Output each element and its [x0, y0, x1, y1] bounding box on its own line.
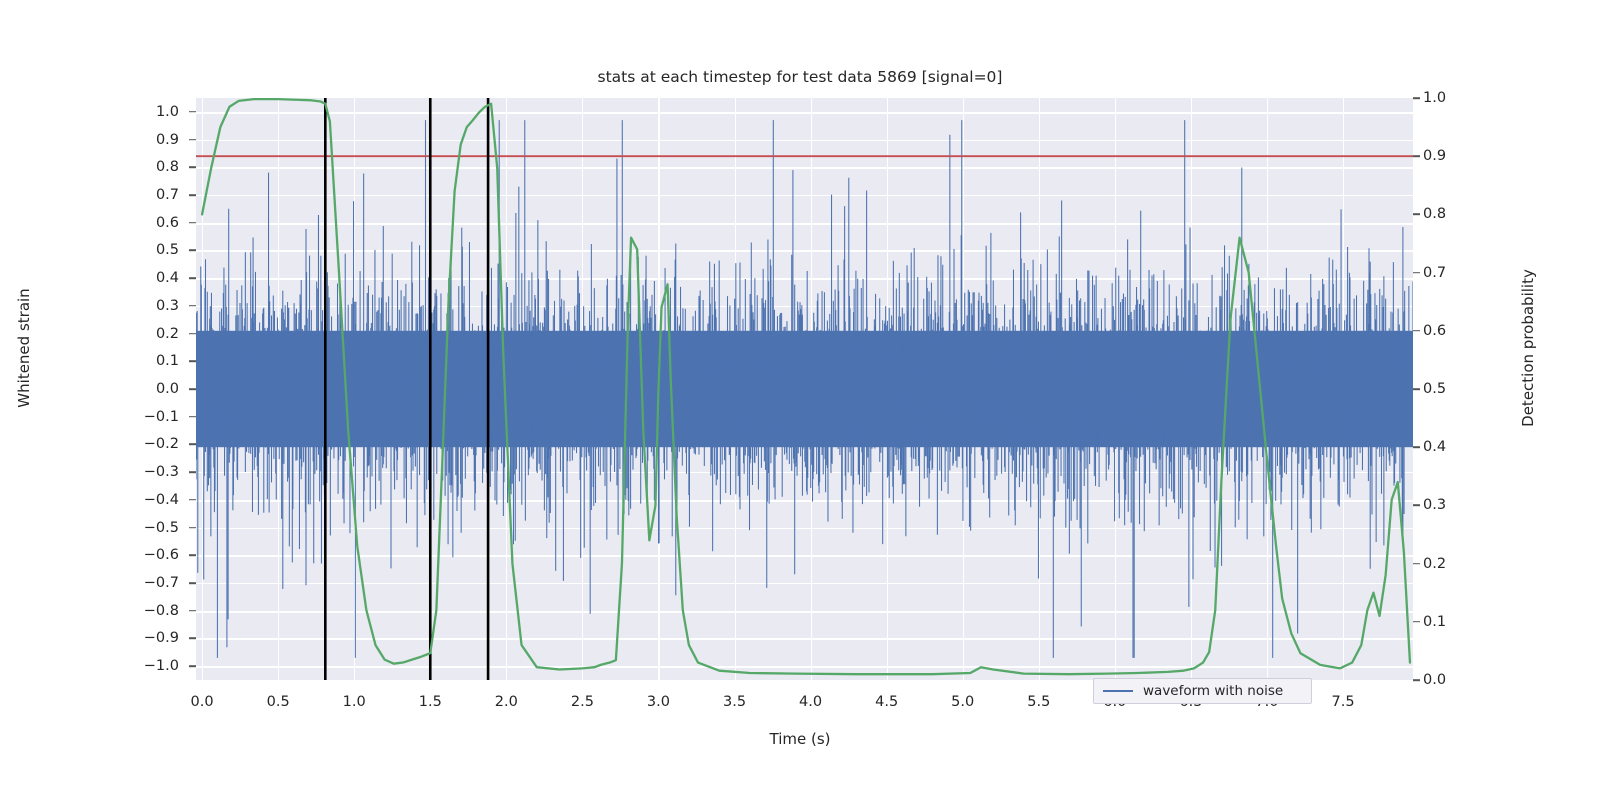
y-tick-left: −0.5	[144, 520, 179, 536]
y-tick-mark-right	[1413, 621, 1420, 623]
y-tick-left: −0.1	[144, 409, 179, 425]
y-tick-left: −0.9	[144, 630, 179, 646]
y-tick-right: 0.7	[1423, 265, 1446, 281]
y-tick-mark-right	[1413, 155, 1420, 157]
y-tick-left: 0.6	[156, 215, 179, 231]
y-tick-left: −0.6	[144, 547, 179, 563]
detection-probability-path	[202, 99, 1410, 674]
y-tick-right: 0.3	[1423, 497, 1446, 513]
x-tick: 5.5	[1027, 694, 1050, 710]
y-tick-mark-left	[189, 471, 196, 473]
y-tick-left: 0.7	[156, 187, 179, 203]
legend-label-waveform: waveform with noise	[1143, 683, 1283, 699]
y-tick-mark-left	[189, 388, 196, 390]
y-tick-mark-right	[1413, 330, 1420, 332]
x-tick: 3.5	[723, 694, 746, 710]
y-axis-left-label: Whitened strain	[15, 248, 33, 448]
y-tick-right: 0.0	[1423, 672, 1446, 688]
y-tick-mark-right	[1413, 563, 1420, 565]
y-tick-left: −0.3	[144, 464, 179, 480]
x-tick: 4.0	[799, 694, 822, 710]
y-tick-mark-left	[189, 139, 196, 141]
y-tick-mark-left	[189, 194, 196, 196]
y-tick-mark-right	[1413, 97, 1420, 99]
y-tick-left: 0.8	[156, 159, 179, 175]
y-tick-left: 1.0	[156, 104, 179, 120]
figure-canvas: stats at each timestep for test data 586…	[0, 0, 1600, 800]
y-tick-right: 1.0	[1423, 90, 1446, 106]
x-tick: 0.5	[267, 694, 290, 710]
y-tick-mark-left	[189, 277, 196, 279]
y-tick-mark-left	[189, 416, 196, 418]
y-tick-mark-left	[189, 111, 196, 113]
y-tick-left: −0.8	[144, 603, 179, 619]
legend-swatch-waveform	[1103, 690, 1133, 692]
y-tick-left: −0.2	[144, 436, 179, 452]
y-tick-mark-right	[1413, 388, 1420, 390]
x-tick: 5.0	[951, 694, 974, 710]
y-tick-mark-left	[189, 444, 196, 446]
x-tick: 2.5	[571, 694, 594, 710]
y-tick-mark-left	[189, 333, 196, 335]
y-tick-mark-left	[189, 305, 196, 307]
y-tick-left: 0.4	[156, 270, 179, 286]
x-tick: 7.5	[1331, 694, 1354, 710]
y-tick-mark-left	[189, 610, 196, 612]
y-tick-mark-left	[189, 527, 196, 529]
y-tick-mark-left	[189, 554, 196, 556]
y-tick-right: 0.4	[1423, 439, 1446, 455]
page-title: stats at each timestep for test data 586…	[0, 68, 1600, 86]
y-tick-mark-left	[189, 166, 196, 168]
y-tick-right: 0.6	[1423, 323, 1446, 339]
y-tick-mark-right	[1413, 272, 1420, 274]
x-tick: 1.5	[419, 694, 442, 710]
y-tick-right: 0.8	[1423, 206, 1446, 222]
x-tick: 4.5	[875, 694, 898, 710]
y-tick-mark-right	[1413, 214, 1420, 216]
x-tick: 3.0	[647, 694, 670, 710]
y-tick-mark-left	[189, 499, 196, 501]
y-tick-left: 0.3	[156, 298, 179, 314]
y-tick-left: −0.7	[144, 575, 179, 591]
legend: waveform with noise	[1093, 678, 1312, 704]
y-tick-mark-left	[189, 222, 196, 224]
y-tick-mark-right	[1413, 679, 1420, 681]
y-tick-left: 0.2	[156, 326, 179, 342]
x-tick: 0.0	[191, 694, 214, 710]
y-tick-right: 0.5	[1423, 381, 1446, 397]
y-tick-mark-left	[189, 250, 196, 252]
y-tick-left: 0.1	[156, 353, 179, 369]
plot-area	[196, 98, 1413, 680]
x-axis-label: Time (s)	[0, 730, 1600, 748]
y-tick-mark-left	[189, 582, 196, 584]
x-tick: 1.0	[343, 694, 366, 710]
x-tick: 2.0	[495, 694, 518, 710]
y-axis-right-label: Detection probability	[1519, 248, 1537, 448]
overlay-series	[196, 98, 1413, 680]
y-tick-right: 0.2	[1423, 556, 1446, 572]
y-tick-mark-right	[1413, 505, 1420, 507]
y-tick-left: −0.4	[144, 492, 179, 508]
y-tick-right: 0.9	[1423, 148, 1446, 164]
y-tick-right: 0.1	[1423, 614, 1446, 630]
y-tick-mark-left	[189, 360, 196, 362]
y-tick-left: −1.0	[144, 658, 179, 674]
y-tick-mark-left	[189, 638, 196, 640]
y-tick-left: 0.9	[156, 132, 179, 148]
y-tick-left: 0.5	[156, 242, 179, 258]
y-tick-mark-right	[1413, 446, 1420, 448]
y-tick-left: 0.0	[156, 381, 179, 397]
y-tick-mark-left	[189, 665, 196, 667]
